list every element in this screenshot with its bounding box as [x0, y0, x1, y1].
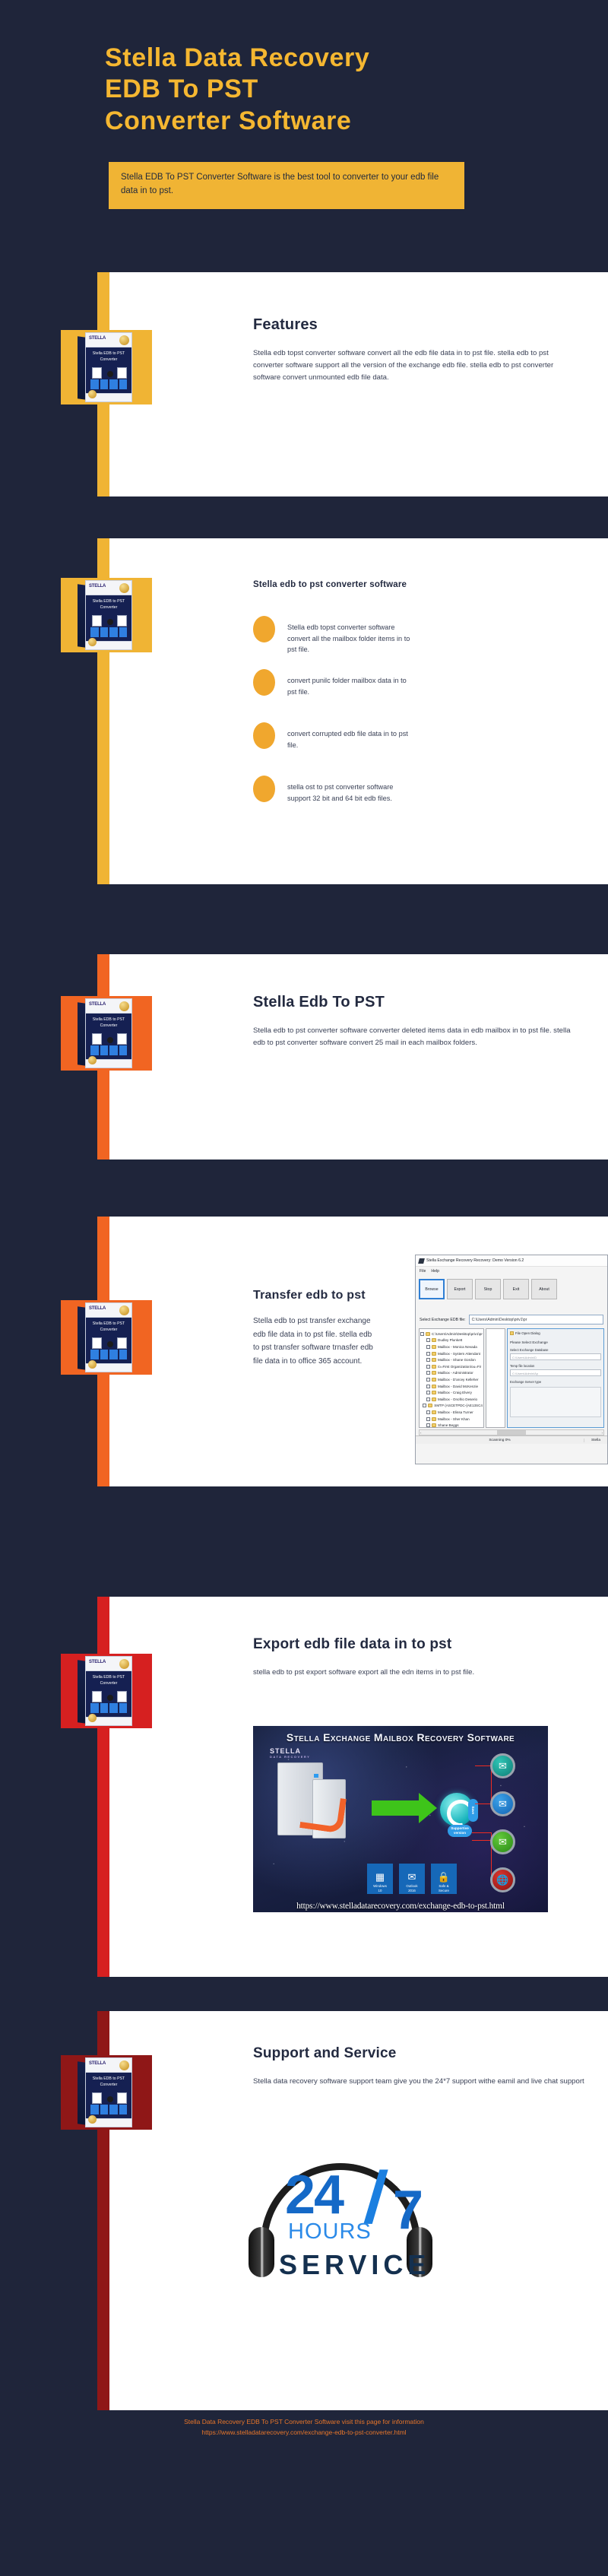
product-box-strip [90, 1350, 127, 1359]
product-box-foot [86, 1363, 131, 1372]
dialog-field2-input[interactable]: C:\Users\Admin\Ap [510, 1369, 601, 1376]
product-box-tile-transfer: STELLA Stella EDB to PST Converter [61, 1300, 152, 1375]
transfer-body: Transfer edb to pst Stella edb to pst tr… [253, 1289, 378, 1368]
product-box-title: Stella EDB to PST Converter [86, 351, 131, 363]
product-box-title: Stella EDB to PST Converter [86, 1017, 131, 1029]
banner-logo-sub: DATA RECOVERY [270, 1755, 310, 1759]
stop-button[interactable]: Stop [475, 1279, 501, 1299]
gold-seal-bottom-icon [88, 2115, 97, 2124]
product-box-art: STELLA Stella EDB to PST Converter [78, 580, 135, 650]
arrow-dot-icon [107, 619, 113, 625]
product-brand: STELLA [89, 2061, 106, 2066]
product-box-strip [90, 379, 127, 389]
windows-icon: ▦ [375, 1871, 385, 1883]
product-title-line1: Stella EDB to PST [93, 1675, 125, 1680]
file-open-dialog[interactable]: File Open Dialog Please Select Exchange … [507, 1328, 604, 1428]
tree-item[interactable]: Mailbox - Elissa Turner [420, 1409, 483, 1416]
stella-edb-heading: Stella Edb To PST [253, 994, 576, 1011]
product-box-cap: STELLA [86, 1303, 131, 1318]
bullet-dot-icon [253, 616, 275, 642]
app-menubar[interactable]: File Help [416, 1267, 607, 1276]
product-title-line2: Converter [100, 357, 118, 362]
features-body: Features Stella edb topst converter soft… [253, 316, 561, 383]
outlook-tile: ✉ Outlook 2016 [399, 1864, 425, 1894]
section-converter-software: STELLA Stella EDB to PST Converter [97, 538, 608, 884]
section-features: STELLA Stella EDB to PST Converter [97, 272, 608, 496]
product-brand: STELLA [89, 584, 106, 588]
export-body: Export edb file data in to pst stella ed… [253, 1636, 587, 1679]
bullet-text-2: convert punilc folder mailbox data in to… [287, 675, 416, 697]
product-title-line2: Converter [100, 1023, 118, 1028]
section-stella-edb-to-pst: STELLA Stella EDB to PST Converter [97, 954, 608, 1160]
product-box-foot [86, 393, 131, 401]
browse-button[interactable]: Browse [419, 1279, 445, 1299]
gold-seal-icon [119, 2060, 129, 2070]
compatibility-tiles: ▦ Windows 10 ✉ Outlook 2016 🔒 Safe & Sec… [367, 1864, 457, 1894]
exchange-file-icon [92, 367, 102, 379]
product-box-cap: STELLA [86, 2058, 131, 2073]
product-box-face: STELLA Stella EDB to PST Converter [85, 1656, 132, 1726]
promo-banner-image: Stella Exchange Mailbox Recovery Softwar… [253, 1726, 548, 1912]
bullet-item-1: Stella edb topst converter software conv… [253, 616, 572, 660]
pst-file-icon [117, 367, 127, 379]
dialog-titlebar: File Open Dialog [510, 1331, 601, 1335]
header: Stella Data Recovery EDB To PST Converte… [0, 0, 608, 251]
pst-file-icon [117, 1033, 127, 1045]
dialog-title: File Open Dialog [515, 1331, 540, 1335]
checkbox-icon[interactable] [426, 1417, 430, 1421]
menu-file[interactable]: File [420, 1269, 426, 1274]
shield-lock-icon: 🔒 [438, 1871, 450, 1883]
pst-file-icon [117, 1337, 127, 1349]
product-box-foot [86, 1059, 131, 1068]
folder-icon [432, 1397, 436, 1401]
title-line-1: Stella Data Recovery [105, 43, 576, 74]
tree-item-label: Mailbox - D'arcey Kelleher [438, 1378, 478, 1382]
outlook-icon: ✉ [408, 1871, 416, 1883]
tree-item-label: Mailbox - Monica Nevada [438, 1345, 477, 1349]
arrow-dot-icon [107, 2096, 113, 2102]
tree-item-label: Mailbox - Craig Elvery [438, 1391, 472, 1394]
features-heading: Features [253, 316, 561, 334]
product-title-line2: Converter [100, 2083, 118, 2087]
folder-icon [510, 1331, 514, 1335]
safe-secure-tile: 🔒 Safe & Secure [431, 1864, 457, 1894]
bullet-item-3: convert corrupted edb file data in to ps… [253, 722, 572, 766]
mailbox-tree[interactable]: C:\Users\Admin\Desktop\priv1\pr Dudley P… [419, 1328, 484, 1428]
dialog-heading: Please Select Exchange [510, 1340, 601, 1344]
section-support-service: STELLA Stella EDB to PST Converter [97, 2011, 608, 2410]
orange-arrow-icon [299, 1793, 347, 1833]
product-title-line2: Converter [100, 1328, 118, 1332]
gold-seal-icon [119, 1001, 129, 1011]
menu-help[interactable]: Help [431, 1269, 439, 1274]
exchange-file-icon [92, 1033, 102, 1045]
open-mail-circle-icon: ✉ [490, 1829, 515, 1854]
product-box-strip [90, 1703, 127, 1713]
gold-seal-icon [119, 1659, 129, 1669]
outlook-circle-icon: ✉ [490, 1753, 515, 1778]
tree-item-label: Mailbox - Administrator [438, 1371, 473, 1375]
product-brand: STELLA [89, 336, 106, 341]
green-arrow-icon [372, 1800, 419, 1816]
pst-file-icon [117, 615, 127, 627]
outlook-tile-version: 2016 [408, 1889, 416, 1892]
folder-icon [432, 1371, 436, 1375]
tree-item-label: Mailbox - Shane Gordon [438, 1358, 476, 1362]
folder-icon [432, 1365, 436, 1369]
status-brand: Stella [584, 1439, 607, 1442]
red-connector-line [472, 1840, 492, 1880]
safe-tile-version: Secure [439, 1889, 449, 1892]
horizontal-scrollbar[interactable]: ‹ › [419, 1429, 604, 1436]
product-box-strip [90, 627, 127, 637]
checkbox-icon[interactable] [420, 1332, 424, 1336]
converter-heading: Stella edb to pst converter software [253, 580, 572, 589]
dialog-field3-label: Exchange Server type [510, 1380, 601, 1384]
product-box-tile-features: STELLA Stella EDB to PST Converter [61, 330, 152, 404]
pst-file-icon [117, 1691, 127, 1702]
product-box-tile-export: STELLA Stella EDB to PST Converter [61, 1654, 152, 1728]
title-line-3: Converter Software [105, 106, 576, 137]
bullet-text-4: stella ost to pst converter software sup… [287, 782, 416, 804]
exchange-file-icon [92, 2092, 102, 2104]
folder-icon [432, 1391, 436, 1394]
folder-icon [432, 1378, 436, 1382]
checkbox-icon[interactable] [426, 1358, 430, 1362]
service-number-24: 24 [285, 2168, 343, 2222]
product-box-tile-support: STELLA Stella EDB to PST Converter [61, 2055, 152, 2130]
tree-item-label: Mailbox - System Attendant [438, 1352, 480, 1356]
product-box-face: STELLA Stella EDB to PST Converter [85, 998, 132, 1068]
support-heading: Support and Service [253, 2045, 587, 2062]
arrow-dot-icon [107, 371, 113, 377]
tree-item-label: Dudley Plunkett [438, 1338, 462, 1342]
product-box-art: STELLA Stella EDB to PST Converter [78, 332, 135, 402]
app-titlebar: Stella Exchange Recovery Recovery: Demo … [416, 1255, 607, 1267]
supportive-version-pill: Supportive version [448, 1825, 472, 1837]
edb-path-row[interactable]: Select Exchange EDB file: C:\Users\Admin… [416, 1313, 607, 1326]
subtitle-callout: Stella EDB To PST Converter Software is … [109, 162, 464, 209]
scrollbar-thumb[interactable] [497, 1430, 526, 1435]
dialog-field1-input[interactable]: C:\Users\Admin\D [510, 1353, 601, 1360]
folder-icon [432, 1352, 436, 1356]
product-box-strip [90, 2105, 127, 2114]
folder-icon [426, 1332, 430, 1336]
transfer-text: Stella edb to pst transfer exchange edb … [253, 1315, 378, 1368]
app-screenshot[interactable]: Stella Exchange Recovery Recovery: Demo … [415, 1255, 608, 1464]
product-box-art: STELLA Stella EDB to PST Converter [78, 1302, 135, 1372]
tree-item[interactable]: SMTP (ASCETPDC-{AE13SC4 [420, 1403, 483, 1410]
tree-item[interactable]: Mailbox - D'arcey Kelleher [420, 1376, 483, 1383]
red-connector-line [475, 1804, 492, 1805]
support-text: Stella data recovery software support te… [253, 2076, 587, 2088]
features-text: Stella edb topst converter software conv… [253, 347, 561, 383]
bullet-text-1: Stella edb topst converter software conv… [287, 622, 416, 655]
tree-item-label: Mailbox - Onofrio Deserio [438, 1397, 477, 1401]
section-export-edb: STELLA Stella EDB to PST Converter [97, 1597, 608, 1977]
tree-item-label: /o=First Organization/ou=Fir [438, 1365, 481, 1369]
bullet-item-4: stella ost to pst converter software sup… [253, 776, 572, 820]
product-brand: STELLA [89, 1002, 106, 1007]
checkbox-icon[interactable] [426, 1423, 430, 1427]
tree-root-node[interactable]: C:\Users\Admin\Desktop\priv1\pr [420, 1331, 483, 1337]
app-statusbar: Scanning 0% Stella [416, 1436, 607, 1444]
subtitle-text: Stella EDB To PST Converter Software is … [121, 171, 452, 198]
checkbox-icon[interactable] [426, 1365, 430, 1369]
product-box-face: STELLA Stella EDB to PST Converter [85, 1302, 132, 1372]
tree-item-label: Mailbox - David McKenzie [438, 1385, 478, 1388]
stella-edb-text: Stella edb to pst converter software con… [253, 1025, 576, 1049]
tree-item[interactable]: /o=First Organization/ou=Fir [420, 1363, 483, 1370]
product-title-line1: Stella EDB to PST [93, 351, 125, 356]
banner-logo-text: STELLA [270, 1747, 301, 1755]
product-title-line2: Converter [100, 605, 118, 610]
gold-seal-bottom-icon [88, 1360, 97, 1369]
tree-item[interactable]: Mailbox - Administrator [420, 1370, 483, 1377]
bullet-item-2: convert punilc folder mailbox data in to… [253, 669, 572, 713]
about-button[interactable]: About [531, 1279, 557, 1299]
product-box-title: Stella EDB to PST Converter [86, 599, 131, 611]
folder-icon [432, 1358, 436, 1362]
checkbox-icon[interactable] [426, 1378, 430, 1382]
product-box-cap: STELLA [86, 1657, 131, 1671]
product-box-strip [90, 1045, 127, 1055]
product-title-line2: Converter [100, 1681, 118, 1686]
arrow-dot-icon [107, 1037, 113, 1043]
product-box-face: STELLA Stella EDB to PST Converter [85, 580, 132, 650]
transfer-heading: Transfer edb to pst [253, 1289, 378, 1302]
folder-icon [432, 1410, 436, 1414]
product-box-art: STELLA Stella EDB to PST Converter [78, 998, 135, 1068]
status-scanning: Scanning 0% [416, 1439, 584, 1442]
folder-icon [432, 1345, 436, 1349]
banner-logo: STELLA DATA RECOVERY [270, 1747, 310, 1759]
tree-root-label: C:\Users\Admin\Desktop\priv1\pr [432, 1332, 483, 1336]
service-247-image: 24 / 7 HOURS SERVICE [230, 2163, 458, 2296]
tree-item-label: SMTP (ASCETPDC-{AE13SC4 [434, 1404, 483, 1407]
export-heading: Export edb file data in to pst [253, 1636, 587, 1653]
folder-icon [432, 1385, 436, 1388]
product-box-title: Stella EDB to PST Converter [86, 1675, 131, 1687]
arrow-dot-icon [107, 1341, 113, 1347]
tree-item[interactable]: Dudley Plunkett [420, 1337, 483, 1344]
tree-item-label: Shane Beggs [438, 1423, 459, 1427]
folder-icon [428, 1404, 432, 1407]
product-box-cap: STELLA [86, 999, 131, 1014]
bullet-dot-icon [253, 722, 275, 749]
checkbox-icon[interactable] [426, 1385, 430, 1388]
headset-earcup-left-icon [249, 2227, 274, 2277]
edb-path-label: Select Exchange EDB file: [420, 1318, 466, 1322]
tree-item[interactable]: Mailbox - Onofrio Deserio [420, 1396, 483, 1403]
save-pill-label: Save [468, 1799, 478, 1822]
tree-item-label: Mailbox - Sher Khan [438, 1417, 470, 1421]
title-line-2: EDB To PST [105, 74, 576, 105]
tree-item[interactable]: Mailbox - Sher Khan [420, 1416, 483, 1423]
tree-item[interactable]: Mailbox - System Attendant [420, 1350, 483, 1357]
scroll-right-arrow-icon[interactable]: › [602, 1431, 603, 1435]
bullet-text-3: convert corrupted edb file data in to ps… [287, 728, 416, 750]
folder-icon [432, 1338, 436, 1342]
tree-item[interactable]: Mailbox - Shane Gordon [420, 1356, 483, 1363]
bullet-dot-icon [253, 776, 275, 802]
scroll-left-arrow-icon[interactable]: ‹ [420, 1431, 421, 1435]
banner-url: https://www.stelladatarecovery.com/excha… [253, 1902, 548, 1911]
tree-item-label: Mailbox - Elissa Turner [438, 1410, 473, 1414]
page-title: Stella Data Recovery EDB To PST Converte… [105, 43, 576, 137]
dialog-field1-label: Select Exchange Database [510, 1348, 601, 1352]
globe-circle-icon: 🌐 [490, 1867, 515, 1892]
gold-seal-bottom-icon [88, 1056, 97, 1064]
exchange-file-icon [92, 1337, 102, 1349]
tree-item[interactable]: Mailbox - David McKenzie [420, 1383, 483, 1390]
dialog-server-type-box[interactable] [510, 1387, 601, 1417]
app-toolbar[interactable]: Browse Export Stop Exit About [416, 1276, 607, 1303]
exchange-file-icon [92, 1691, 102, 1702]
checkbox-icon[interactable] [426, 1397, 430, 1401]
banner-title: Stella Exchange Mailbox Recovery Softwar… [287, 1731, 515, 1743]
checkbox-icon[interactable] [423, 1404, 426, 1407]
product-box-art: STELLA Stella EDB to PST Converter [78, 1656, 135, 1726]
gold-seal-bottom-icon [88, 390, 97, 398]
windows-tile-version: 10 [378, 1889, 382, 1892]
gold-seal-icon [119, 1305, 129, 1315]
infographic-page: Stella Data Recovery EDB To PST Converte… [0, 0, 608, 2576]
red-connector-line [475, 1765, 492, 1800]
checkbox-icon[interactable] [426, 1371, 430, 1375]
stella-edb-body: Stella Edb To PST Stella edb to pst conv… [253, 994, 576, 1049]
product-title-line1: Stella EDB to PST [93, 1017, 125, 1022]
product-box-art: STELLA Stella EDB to PST Converter [78, 2057, 135, 2127]
pst-file-icon [117, 2092, 127, 2104]
product-box-title: Stella EDB to PST Converter [86, 1321, 131, 1334]
app-panes: C:\Users\Admin\Desktop\priv1\pr Dudley P… [416, 1326, 607, 1428]
windows-tile: ▦ Windows 10 [367, 1864, 393, 1894]
product-title-line1: Stella EDB to PST [93, 1321, 125, 1326]
arrow-dot-icon [107, 1695, 113, 1701]
product-box-title: Stella EDB to PST Converter [86, 2076, 131, 2089]
checkbox-icon[interactable] [426, 1352, 430, 1356]
edb-path-input[interactable]: C:\Users\Admin\Desktop\priv1\pr [469, 1315, 603, 1324]
preview-pane[interactable] [486, 1328, 505, 1428]
product-box-cap: STELLA [86, 581, 131, 595]
checkbox-icon[interactable] [426, 1391, 430, 1394]
exchange-file-icon [92, 615, 102, 627]
product-box-tile-stella-edb: STELLA Stella EDB to PST Converter [61, 996, 152, 1071]
app-window-title: Stella Exchange Recovery Recovery: Demo … [426, 1258, 524, 1263]
app-logo-icon [418, 1258, 425, 1264]
service-hours-label: HOURS [288, 2221, 372, 2243]
checkbox-icon[interactable] [426, 1345, 430, 1349]
section-transfer-edb-to-pst: STELLA Stella EDB to PST Converter [97, 1217, 608, 1486]
tree-item[interactable]: Shane Beggs [420, 1422, 483, 1428]
dialog-field2-label: Temp file location [510, 1364, 601, 1368]
checkbox-icon[interactable] [426, 1338, 430, 1342]
service-number-7: 7 [393, 2183, 423, 2238]
gold-seal-icon [119, 583, 129, 593]
product-brand: STELLA [89, 1660, 106, 1664]
product-title-line1: Stella EDB to PST [93, 599, 125, 604]
product-box-face: STELLA Stella EDB to PST Converter [85, 332, 132, 402]
footer-line-2[interactable]: https://www.stelladatarecovery.com/excha… [0, 2427, 608, 2438]
footer: Stella Data Recovery EDB To PST Converte… [0, 2416, 608, 2438]
export-text: stella edb to pst export software export… [253, 1667, 587, 1679]
gold-seal-icon [119, 335, 129, 345]
folder-icon [432, 1423, 436, 1427]
product-box-foot [86, 641, 131, 649]
bullet-dot-icon [253, 669, 275, 696]
product-box-tile-converter: STELLA Stella EDB to PST Converter [61, 578, 152, 652]
converter-body: Stella edb to pst converter software Ste… [253, 580, 572, 820]
product-brand: STELLA [89, 1306, 106, 1311]
service-label: SERVICE [279, 2251, 430, 2279]
product-title-line1: Stella EDB to PST [93, 2076, 125, 2081]
support-body: Support and Service Stella data recovery… [253, 2045, 587, 2088]
tree-item[interactable]: Mailbox - Monica Nevada [420, 1344, 483, 1350]
gold-seal-bottom-icon [88, 1714, 97, 1722]
exit-button[interactable]: Exit [503, 1279, 529, 1299]
footer-line-1: Stella Data Recovery EDB To PST Converte… [0, 2416, 608, 2427]
product-box-foot [86, 2118, 131, 2127]
envelope-circle-icon: ✉ [490, 1791, 515, 1816]
product-box-cap: STELLA [86, 333, 131, 347]
folder-icon [432, 1417, 436, 1421]
product-box-face: STELLA Stella EDB to PST Converter [85, 2057, 132, 2127]
checkbox-icon[interactable] [426, 1410, 430, 1414]
export-button[interactable]: Export [447, 1279, 473, 1299]
product-box-foot [86, 1717, 131, 1725]
gold-seal-bottom-icon [88, 638, 97, 646]
tree-item[interactable]: Mailbox - Craig Elvery [420, 1389, 483, 1396]
